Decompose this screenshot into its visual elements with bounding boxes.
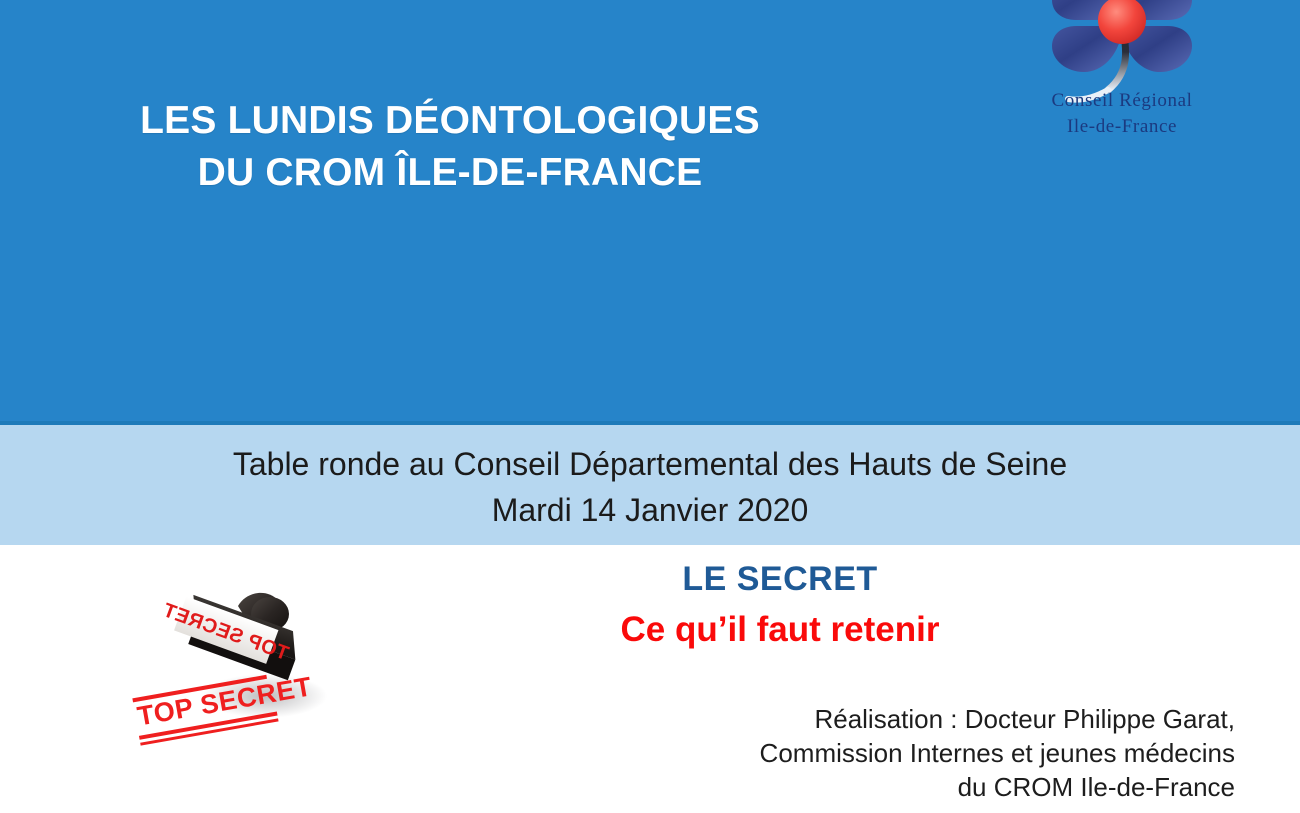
event-subtitle: Table ronde au Conseil Départemental des… bbox=[0, 441, 1300, 533]
top-secret-stamp-image: TOP SECRET TOP SECRET bbox=[120, 578, 350, 758]
credits-block: Réalisation : Docteur Philippe Garat, Co… bbox=[575, 702, 1235, 804]
slide-canvas: LES LUNDIS DÉONTOLOGIQUES DU CROM ÎLE-DE… bbox=[0, 0, 1300, 813]
conseil-regional-logo: Conseil Régional Ile-de-France bbox=[1022, 0, 1222, 148]
conseil-regional-logo-text: Conseil Régional Ile-de-France bbox=[1022, 88, 1222, 140]
page-title: LES LUNDIS DÉONTOLOGIQUES DU CROM ÎLE-DE… bbox=[60, 95, 840, 199]
topic-subheading: Ce qu’il faut retenir bbox=[430, 608, 1130, 652]
topic-heading: LE SECRET bbox=[430, 558, 1130, 600]
